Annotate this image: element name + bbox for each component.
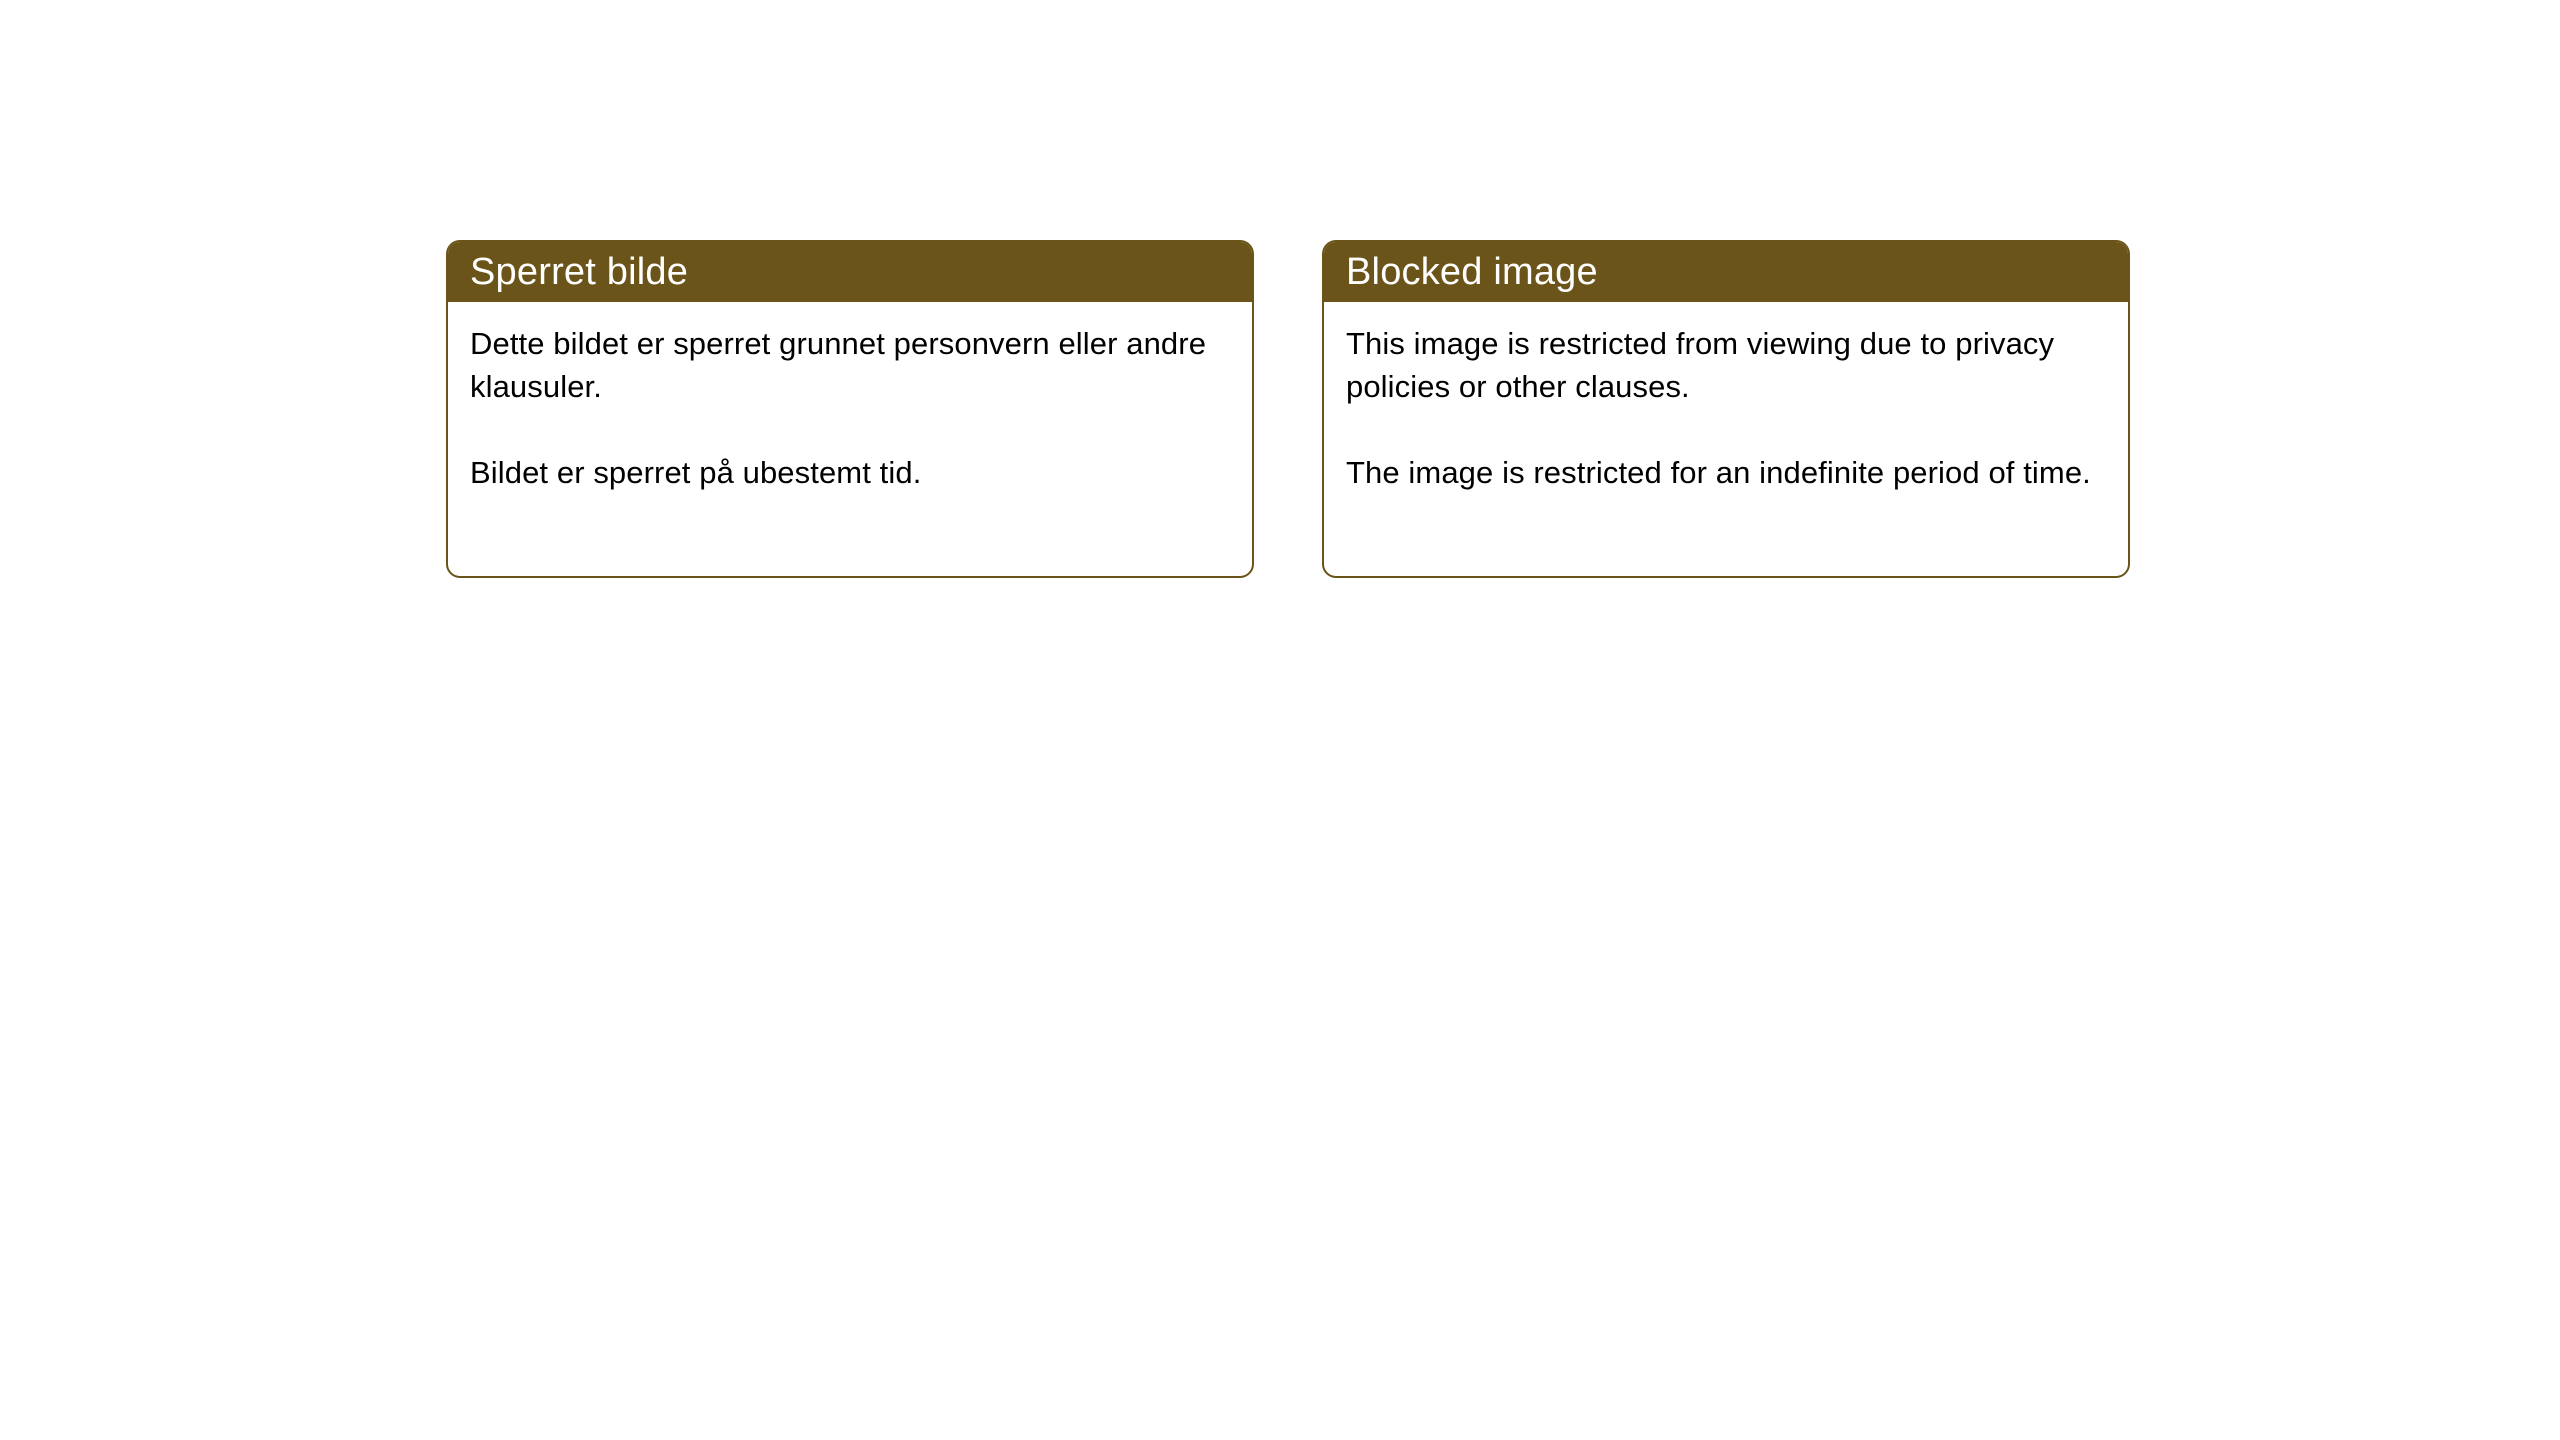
card-paragraph-primary-norwegian: Dette bildet er sperret grunnet personve… [470, 322, 1226, 408]
blocked-image-card-english: Blocked image This image is restricted f… [1322, 240, 2130, 578]
card-paragraph-secondary-norwegian: Bildet er sperret på ubestemt tid. [470, 451, 1226, 494]
card-title-norwegian: Sperret bilde [470, 253, 688, 291]
card-body-norwegian: Dette bildet er sperret grunnet personve… [448, 302, 1252, 494]
card-header-norwegian: Sperret bilde [448, 242, 1252, 302]
card-paragraph-secondary-english: The image is restricted for an indefinit… [1346, 451, 2102, 494]
card-paragraph-primary-english: This image is restricted from viewing du… [1346, 322, 2102, 408]
card-body-english: This image is restricted from viewing du… [1324, 302, 2128, 494]
card-header-english: Blocked image [1324, 242, 2128, 302]
card-title-english: Blocked image [1346, 253, 1598, 291]
page-root: Sperret bilde Dette bildet er sperret gr… [0, 0, 2560, 1440]
blocked-image-card-norwegian: Sperret bilde Dette bildet er sperret gr… [446, 240, 1254, 578]
